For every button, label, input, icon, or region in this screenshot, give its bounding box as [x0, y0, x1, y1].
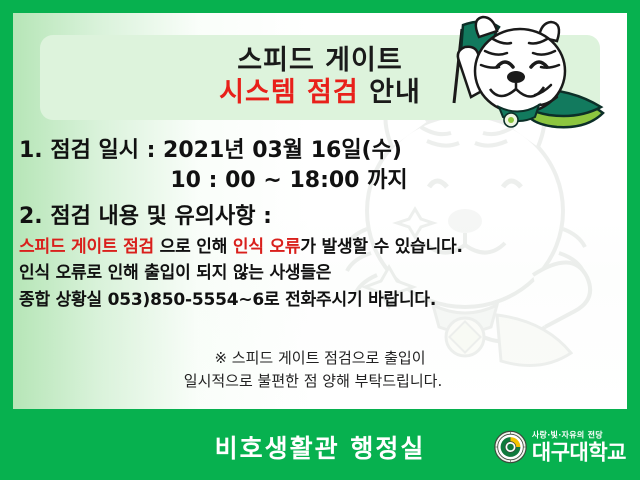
- detail-line-3: 종합 상황실 053)850-5554~6로 전화주시기 바랍니다.: [19, 287, 619, 313]
- university-brand: 사랑·빛·자유의 전당 대구대학교: [494, 431, 626, 464]
- content-panel: 스피드 게이트 시스템 점검 안내: [13, 13, 627, 409]
- inspection-date-line: 1. 점검 일시 : 2021년 03월 16일(수): [19, 136, 619, 166]
- inspection-time-line: 10 : 00 ~ 18:00 까지: [19, 166, 619, 196]
- detail-red-2: 인식 오류: [233, 237, 300, 257]
- daegu-university-emblem-icon: [494, 431, 527, 464]
- notice-line-2: 일시적으로 불편한 점 양해 부탁드립니다.: [13, 370, 627, 393]
- detail-mid-1: 으로 인해: [154, 237, 233, 257]
- notice-block: ※ 스피드 게이트 점검으로 출입이 일시적으로 불편한 점 양해 부탁드립니다…: [13, 347, 627, 394]
- title-line-2: 시스템 점검 안내: [219, 76, 421, 110]
- footer-bar: 비호생활관 행정실 사랑·빛·자유의 전당 대구대학교: [0, 414, 640, 480]
- detail-tail-1: 가 발생할 수 있습니다.: [300, 237, 462, 257]
- brand-slogan: 사랑·빛·자유의 전당: [532, 431, 626, 439]
- title-plain: 안내: [359, 77, 421, 108]
- brand-text: 사랑·빛·자유의 전당 대구대학교: [532, 431, 626, 463]
- notice-poster: 스피드 게이트 시스템 점검 안내: [0, 0, 640, 480]
- body-text-block: 1. 점검 일시 : 2021년 03월 16일(수) 10 : 00 ~ 18…: [19, 136, 619, 313]
- detail-line-2: 인식 오류로 인해 출입이 되지 않는 사생들은: [19, 260, 619, 286]
- footer-title: 비호생활관 행정실: [215, 429, 426, 465]
- detail-line-1: 스피드 게이트 점검 으로 인해 인식 오류가 발생할 수 있습니다.: [19, 234, 619, 260]
- brand-name: 대구대학교: [532, 442, 626, 463]
- detail-red-1: 스피드 게이트 점검: [19, 237, 154, 257]
- title-highlight: 시스템 점검: [219, 77, 359, 108]
- title-box: 스피드 게이트 시스템 점검 안내: [40, 35, 600, 120]
- notice-line-1: ※ 스피드 게이트 점검으로 출입이: [13, 347, 627, 370]
- title-line-1: 스피드 게이트: [237, 45, 402, 76]
- inspection-content-heading: 2. 점검 내용 및 유의사항 :: [19, 199, 619, 234]
